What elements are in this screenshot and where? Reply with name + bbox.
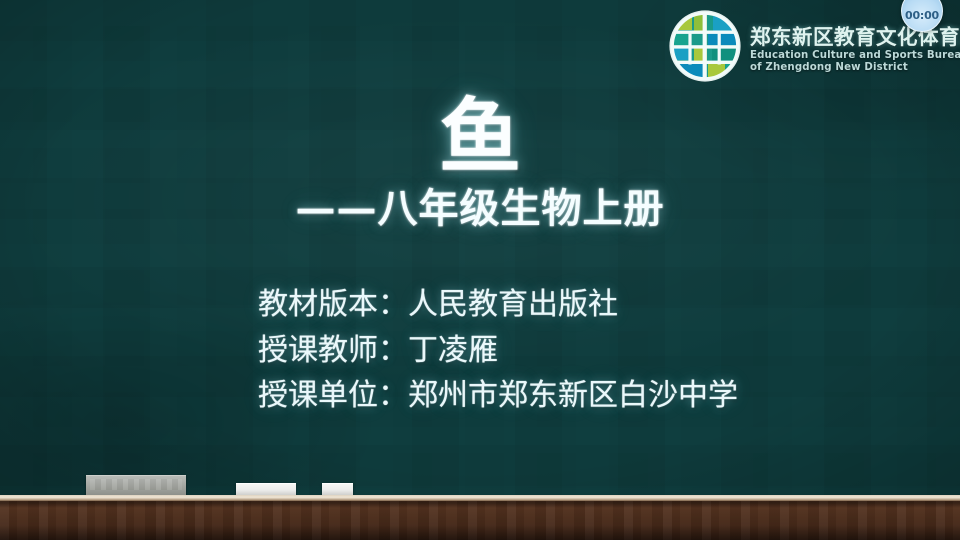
info-row-school: 授课单位：郑州市郑东新区白沙中学 bbox=[258, 373, 918, 419]
chalkboard-wooden-ledge bbox=[0, 501, 960, 540]
slide-subtitle: ——八年级生物上册 bbox=[0, 186, 960, 232]
chalk-stick-long bbox=[236, 483, 296, 495]
info-row-textbook: 教材版本：人民教育出版社 bbox=[258, 282, 918, 328]
blackboard-eraser bbox=[86, 475, 186, 495]
zhengdong-education-bureau-emblem-icon bbox=[668, 9, 742, 83]
recording-timer-badge[interactable]: 00:00 bbox=[901, 0, 943, 32]
organization-name-en-line1: Education Culture and Sports Bureau bbox=[750, 50, 960, 62]
recording-timer-value: 00:00 bbox=[905, 9, 939, 31]
info-row-teacher: 授课教师：丁凌雁 bbox=[258, 328, 918, 374]
chalk-stick-short bbox=[322, 483, 353, 495]
slide-info-list: 教材版本：人民教育出版社 授课教师：丁凌雁 授课单位：郑州市郑东新区白沙中学 bbox=[258, 282, 918, 419]
lesson-intro-slide: 郑东新区教育文化体育局 Education Culture and Sports… bbox=[0, 0, 960, 540]
organization-name-en-line2: of Zhengdong New District bbox=[750, 62, 960, 74]
slide-title: 鱼 bbox=[0, 96, 960, 178]
